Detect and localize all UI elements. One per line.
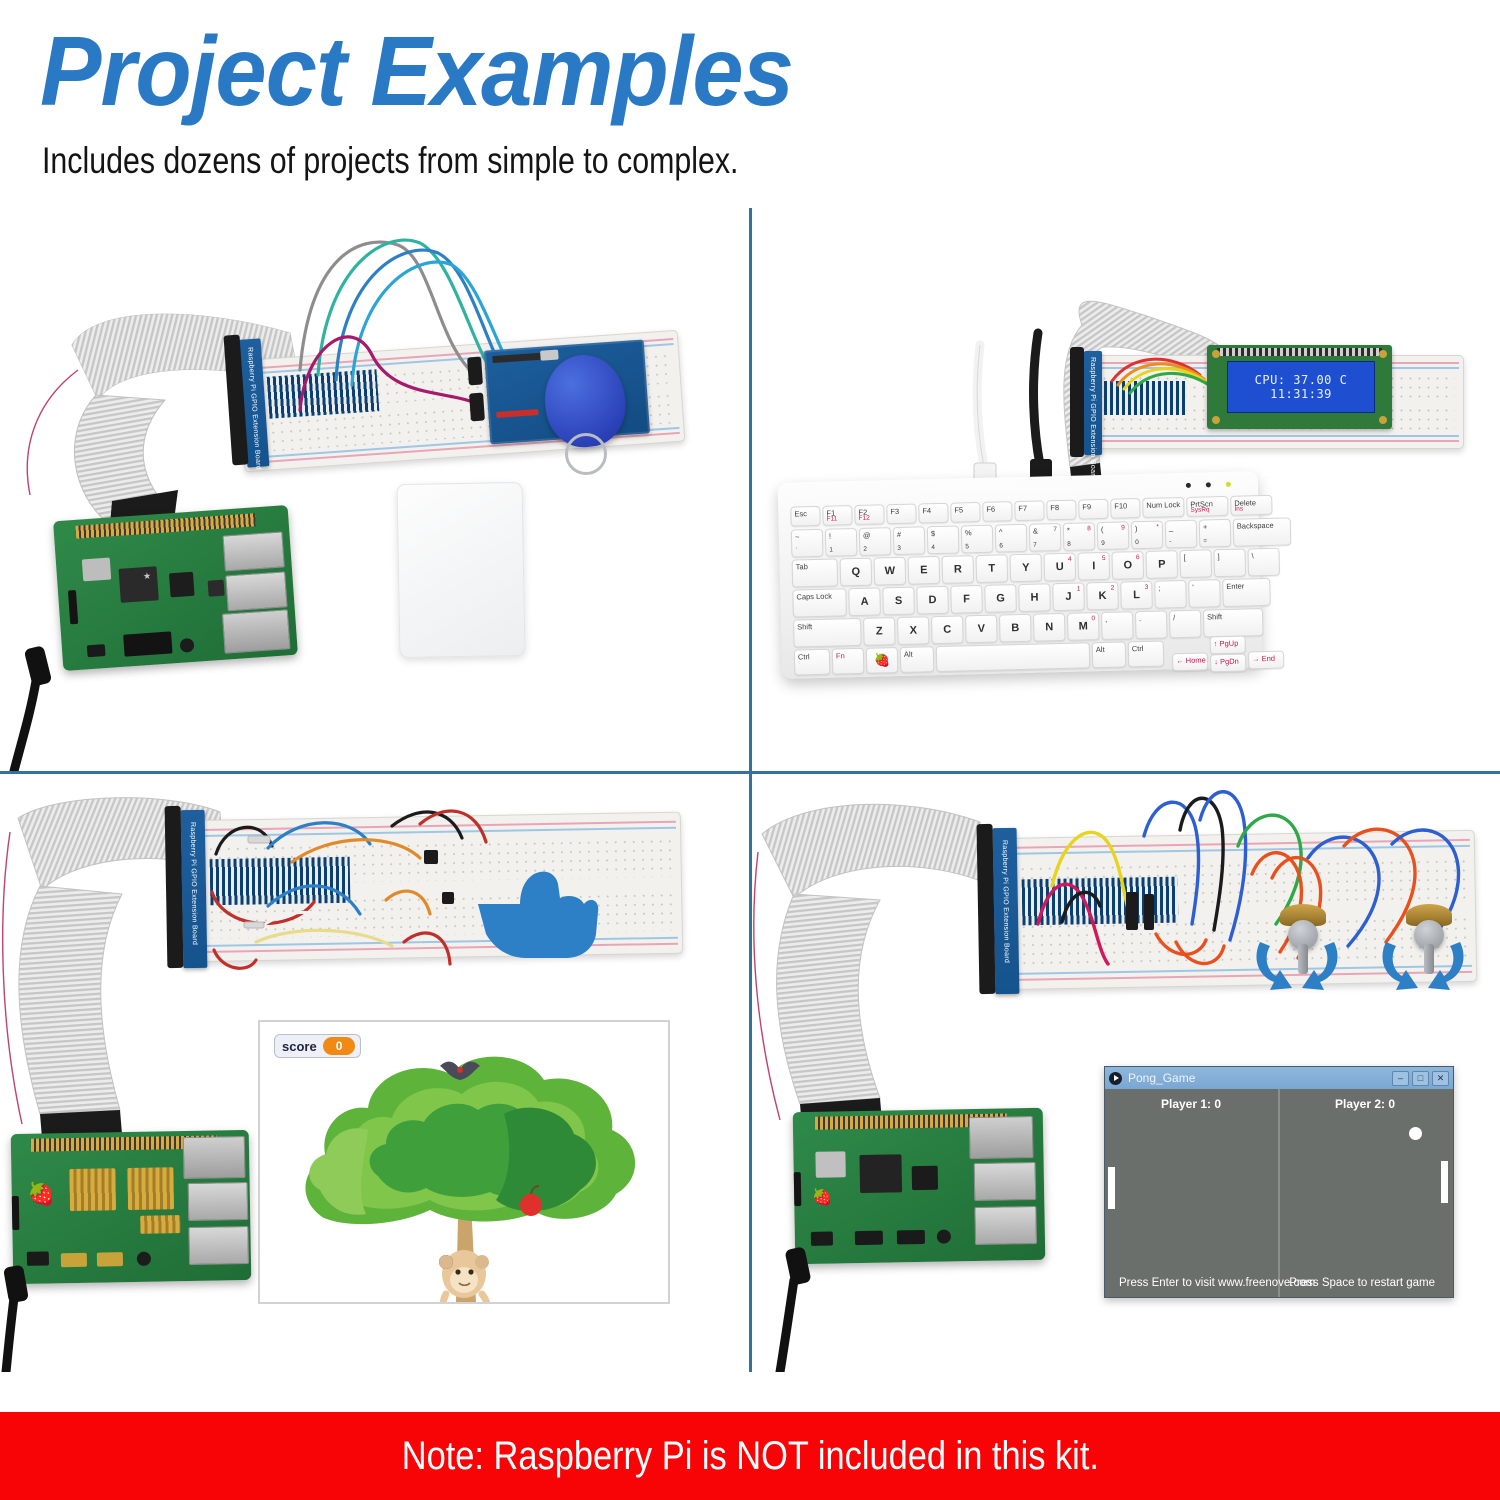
key-sub-label: 1 <box>829 547 833 554</box>
key-label: ! <box>829 532 831 541</box>
key-bracket-0[interactable]: [ <box>1179 549 1212 578</box>
key-enter[interactable]: Enter <box>1222 578 1271 607</box>
key-bracket-2[interactable]: \ <box>1247 548 1280 577</box>
key-label: F3 <box>890 507 899 516</box>
key-label: ~ <box>795 532 800 541</box>
key-label: F6 <box>986 505 995 514</box>
key-label: J <box>1065 591 1071 603</box>
key-label: E <box>920 564 928 576</box>
key-sub-label: ` <box>795 547 797 554</box>
key-label: ( <box>1101 525 1104 534</box>
key-alt-label: Ins <box>1234 506 1243 513</box>
product-feature-image: Project Examples Includes dozens of proj… <box>0 0 1500 1500</box>
pong-game-window[interactable]: Pong_Game – □ ✕ Player 1: 0 Player 2: 0 … <box>1104 1066 1454 1298</box>
header: Project Examples Includes dozens of proj… <box>0 0 1500 190</box>
key-label: T <box>988 563 995 575</box>
key-sym-2[interactable]: / <box>1169 610 1202 639</box>
key-label: K <box>1098 590 1106 602</box>
key-label: ] <box>1218 552 1220 561</box>
key-numpad-label: 8 <box>1087 525 1091 532</box>
key-label: Shift <box>797 622 812 631</box>
key-label: ↓ PgDn <box>1214 657 1239 667</box>
key-6[interactable]: ^6 <box>995 524 1028 553</box>
minimize-button[interactable]: – <box>1392 1071 1409 1086</box>
key-label: N <box>1045 621 1053 633</box>
raspberry-pi-keyboard[interactable]: EscF1F11F2F12F3F4F5F6F7F8F9F10Num LockPr… <box>778 471 1263 679</box>
key-numpad-label: * <box>1156 524 1159 531</box>
pong-play-field: Player 1: 0 Player 2: 0 Press Enter to v… <box>1105 1089 1453 1297</box>
key-label: ↑ PgUp <box>1214 639 1239 649</box>
key-caps-lock[interactable]: Caps Lock <box>792 588 847 617</box>
key-label: P <box>1158 558 1166 570</box>
key-m[interactable]: M0 <box>1067 612 1100 641</box>
key-k[interactable]: K2 <box>1086 582 1119 611</box>
key-g[interactable]: G <box>984 584 1017 613</box>
key-label: ^ <box>999 527 1003 536</box>
key-l[interactable]: L3 <box>1120 581 1153 610</box>
key-label: Tab <box>796 562 808 571</box>
key-punct-1[interactable]: ' <box>1188 579 1221 608</box>
score-label: score <box>282 1039 317 1054</box>
key-e[interactable]: E <box>908 556 941 585</box>
key-f4[interactable]: F4 <box>918 503 948 524</box>
key-8[interactable]: *88 <box>1063 522 1096 551</box>
key-end[interactable]: → End <box>1248 651 1284 670</box>
key-t[interactable]: T <box>976 554 1009 583</box>
key-o[interactable]: O6 <box>1111 551 1144 580</box>
key-label: V <box>977 623 985 635</box>
key-alt-right[interactable]: Alt <box>1092 641 1127 668</box>
key-alt-left[interactable]: Alt <box>900 646 935 673</box>
key-space[interactable] <box>936 642 1091 672</box>
key-label: @ <box>863 531 871 540</box>
key-alt-label: SysRq <box>1190 506 1209 513</box>
key-f3[interactable]: F3 <box>886 504 916 525</box>
key-tab[interactable]: Tab <box>792 558 839 587</box>
key-y[interactable]: Y <box>1009 553 1042 582</box>
panel-rfid-project: Raspberry Pi GPIO Extension Board <box>0 195 749 771</box>
key-numpad-label: 0 <box>1091 615 1095 622</box>
key-i[interactable]: I5 <box>1077 552 1110 581</box>
key-label: % <box>965 528 972 537</box>
key-x[interactable]: X <box>897 616 930 645</box>
key-4[interactable]: $4 <box>927 525 960 554</box>
key-numpad-label: 2 <box>1111 585 1115 592</box>
hint-left: Press Enter to visit www.freenove.com <box>1119 1277 1315 1289</box>
key-b[interactable]: B <box>999 614 1032 643</box>
key-numpad-label: 3 <box>1145 584 1149 591</box>
key-label: A <box>860 596 868 608</box>
key-alt-label: F11 <box>826 515 837 522</box>
key-delete[interactable]: DeleteIns <box>1230 495 1272 516</box>
key-1[interactable]: !1 <box>825 528 858 557</box>
key-f6[interactable]: F6 <box>982 501 1012 522</box>
key-w[interactable]: W <box>874 557 907 586</box>
score-value: 0 <box>323 1037 356 1055</box>
key-label: F9 <box>1082 502 1091 511</box>
key-3[interactable]: #3 <box>893 526 926 555</box>
key-label: Shift <box>1207 612 1222 621</box>
pong-titlebar[interactable]: Pong_Game – □ ✕ <box>1105 1067 1453 1089</box>
key-label: R <box>954 563 962 575</box>
key-label: Caps Lock <box>796 592 832 602</box>
key-sub-label: 3 <box>897 545 901 552</box>
key-label: Backspace <box>1237 521 1274 531</box>
key-=[interactable]: += <box>1199 519 1232 548</box>
key-q[interactable]: Q <box>840 558 873 587</box>
key-f2[interactable]: F2F12 <box>854 504 884 525</box>
key-fn[interactable]: Fn <box>832 648 865 675</box>
key-shift-right[interactable]: Shift <box>1203 608 1264 637</box>
key-f1[interactable]: F1F11 <box>822 505 852 526</box>
key-label: Alt <box>904 650 913 659</box>
key-shift-left[interactable]: Shift <box>793 618 862 648</box>
key-label: F7 <box>1018 504 1027 513</box>
close-button[interactable]: ✕ <box>1432 1071 1449 1086</box>
led-numlock <box>1186 483 1191 488</box>
key-label: Esc <box>794 509 807 518</box>
key-2[interactable]: @2 <box>859 527 892 556</box>
key-label: X <box>910 625 918 637</box>
key-n[interactable]: N <box>1033 613 1066 642</box>
key-home[interactable]: ← Home <box>1172 652 1208 671</box>
key-s[interactable]: S <box>882 587 915 616</box>
key-bracket-1[interactable]: ] <box>1213 548 1246 577</box>
key-label: / <box>1173 613 1175 622</box>
player1-score: Player 1: 0 <box>1161 1097 1221 1111</box>
key-7[interactable]: &77 <box>1029 523 1062 552</box>
key-punct-0[interactable]: ; <box>1154 580 1187 609</box>
key-num-lock[interactable]: Num Lock <box>1142 497 1184 518</box>
key-label: U <box>1056 561 1064 573</box>
key-sym-1[interactable]: . <box>1135 610 1168 639</box>
page-title: Project Examples <box>40 22 793 120</box>
footer-banner: Note: Raspberry Pi is NOT included in th… <box>0 1412 1500 1500</box>
key-label: * <box>1067 526 1070 535</box>
key-label: Fn <box>836 651 845 660</box>
panel-lcd-keyboard-project: Raspberry Pi GPIO Extension Board CPU: 3… <box>752 195 1500 771</box>
key-label: Q <box>851 566 860 578</box>
key-label: Num Lock <box>1146 500 1180 510</box>
key-label: ) <box>1135 524 1138 533</box>
key-backspace[interactable]: Backspace <box>1233 517 1292 546</box>
key-sub-label: 9 <box>1101 540 1105 547</box>
key-raspberry-logo[interactable]: 🍓 <box>866 647 899 674</box>
pong-window-title: Pong_Game <box>1128 1071 1389 1085</box>
key-sub-label: 8 <box>1067 541 1071 548</box>
key-numpad-label: 9 <box>1121 524 1125 531</box>
key-sub-label: = <box>1203 537 1207 544</box>
key-label: ' <box>1192 583 1194 592</box>
key-label: . <box>1139 614 1141 623</box>
pong-ball <box>1409 1127 1422 1140</box>
key-label: Ctrl <box>798 652 810 661</box>
key-label: [ <box>1184 553 1186 562</box>
key-ctrl-left[interactable]: Ctrl <box>794 649 831 676</box>
key-numpad-label: 4 <box>1068 556 1072 563</box>
key-label: , <box>1105 615 1107 624</box>
key-numpad-label: 1 <box>1077 586 1081 593</box>
key-label: Enter <box>1226 582 1244 591</box>
key-label: _ <box>1169 523 1173 532</box>
key-pgdn[interactable]: ↓ PgDn <box>1210 654 1246 673</box>
key-label: Y <box>1022 562 1030 574</box>
key-ctrl-right[interactable]: Ctrl <box>1128 641 1165 668</box>
key-label: F5 <box>954 505 963 514</box>
key-label: I <box>1092 560 1095 572</box>
key-sub-label: 7 <box>1033 542 1037 549</box>
key--[interactable]: _- <box>1165 520 1198 549</box>
key-numpad-label: 6 <box>1136 554 1140 561</box>
key-f[interactable]: F <box>950 585 983 614</box>
key-label: ← Home <box>1176 655 1206 665</box>
key-sub-label: - <box>1169 538 1171 545</box>
key-r[interactable]: R <box>942 555 975 584</box>
key-label: Ctrl <box>1132 644 1144 653</box>
key-j[interactable]: J1 <box>1052 582 1085 611</box>
key-label: L <box>1133 589 1140 601</box>
key-5[interactable]: %5 <box>961 525 994 554</box>
key-c[interactable]: C <box>931 615 964 644</box>
key-0[interactable]: )0* <box>1131 520 1164 549</box>
page-subtitle: Includes dozens of projects from simple … <box>42 142 738 179</box>
raspberry-icon: 🍓 <box>874 652 891 668</box>
maximize-button[interactable]: □ <box>1412 1071 1429 1086</box>
key-v[interactable]: V <box>965 615 998 644</box>
tree-scene <box>260 1022 668 1302</box>
score-chip: score 0 <box>274 1034 361 1058</box>
key-a[interactable]: A <box>848 587 881 616</box>
player1-paddle[interactable] <box>1108 1167 1115 1209</box>
led-capslock <box>1206 482 1211 487</box>
power-cable <box>0 195 749 771</box>
key-label: M <box>1079 620 1088 632</box>
key-label: $ <box>931 529 935 538</box>
key-numpad-label: 5 <box>1102 555 1106 562</box>
key-f10[interactable]: F10 <box>1110 498 1140 519</box>
key-f5[interactable]: F5 <box>950 502 980 523</box>
key-f8[interactable]: F8 <box>1046 500 1076 521</box>
key-z[interactable]: Z <box>863 617 896 646</box>
key-sub-label: 0 <box>1135 539 1139 546</box>
key-label: S <box>895 595 903 607</box>
key-label: ; <box>1158 584 1160 593</box>
key-label: F <box>963 593 970 605</box>
key-p[interactable]: P <box>1145 550 1178 579</box>
key-esc[interactable]: Esc <box>790 506 820 527</box>
key-sym-0[interactable]: , <box>1101 611 1134 640</box>
key-`[interactable]: ~` <box>791 529 824 558</box>
key-pgup[interactable]: ↑ PgUp <box>1210 636 1246 655</box>
key-prtscn[interactable]: PrtScnSysRq <box>1186 496 1228 517</box>
key-f7[interactable]: F7 <box>1014 500 1044 521</box>
center-line <box>1278 1089 1280 1297</box>
player2-score: Player 2: 0 <box>1335 1097 1395 1111</box>
hint-right: Press Space to restart game <box>1289 1277 1435 1289</box>
key-f9[interactable]: F9 <box>1078 499 1108 520</box>
key-label: B <box>1011 622 1019 634</box>
key-label: + <box>1203 522 1208 531</box>
key-sub-label: 6 <box>999 542 1003 549</box>
key-h[interactable]: H <box>1018 583 1051 612</box>
panel-scratch-game-project: Raspberry Pi GPIO Extension Board <box>0 774 749 1372</box>
key-label: O <box>1123 559 1132 571</box>
key-d[interactable]: D <box>916 586 949 615</box>
key-alt-label: F12 <box>858 515 869 522</box>
key-9[interactable]: (99 <box>1097 521 1130 550</box>
panel-pong-game-project: Raspberry Pi GPIO Extension Board <box>752 774 1500 1372</box>
key-label: F10 <box>1114 501 1127 510</box>
key-label: Z <box>876 625 883 637</box>
key-label: D <box>928 594 936 606</box>
key-label: & <box>1033 527 1038 536</box>
led-power <box>1226 482 1231 487</box>
key-sub-label: 2 <box>863 546 867 553</box>
key-label: C <box>943 624 951 636</box>
key-sub-label: 4 <box>931 544 935 551</box>
key-label: → End <box>1252 654 1275 664</box>
key-label: # <box>897 530 901 539</box>
key-u[interactable]: U4 <box>1043 553 1076 582</box>
key-label: H <box>1030 592 1038 604</box>
key-sub-label: 5 <box>965 543 969 550</box>
key-label: W <box>885 565 896 577</box>
scratch-stage: score 0 <box>258 1020 670 1304</box>
key-label: F4 <box>922 506 931 515</box>
player2-paddle[interactable] <box>1441 1161 1448 1203</box>
key-numpad-label: 7 <box>1053 526 1057 533</box>
key-label: G <box>996 592 1005 604</box>
key-label: F8 <box>1050 503 1059 512</box>
play-icon <box>1109 1072 1122 1085</box>
key-label: \ <box>1251 551 1253 560</box>
footer-note: Note: Raspberry Pi is NOT included in th… <box>401 1434 1098 1479</box>
key-label: Alt <box>1096 645 1105 654</box>
